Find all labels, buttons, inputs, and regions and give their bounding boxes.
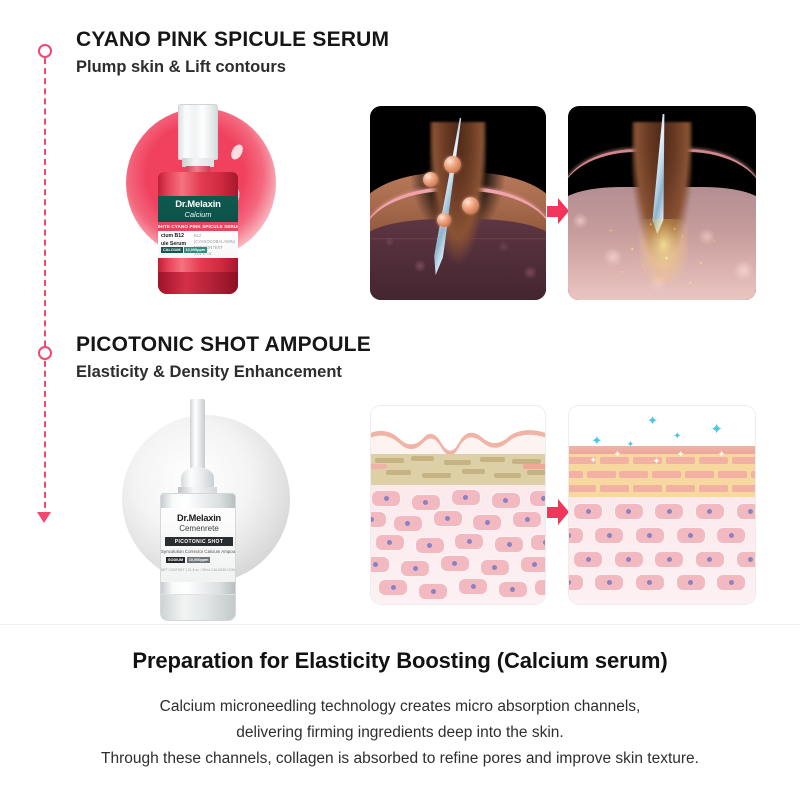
label-columns: cium B12 ule Serum B12 (CYANOCOBALAMIN) … [161,233,235,258]
panel-spicule-entering-pore [370,106,546,300]
label-banner: PICOTONIC SHOT [165,537,233,546]
wrinkle-surface-icon [370,424,546,456]
pill-ppm: 10,000ppm [187,557,211,563]
footer-explanation: Preparation for Elasticity Boosting (Cal… [0,648,800,772]
panel-firmed-skin-cross-section: ✦ ✦ ✦ ✦ ✦ ✦ ✦ ✦ ✦ ✦ [568,405,756,605]
bottle-body: Dr.Melaxin Calcium WHITE CYANO PINK SPIC… [158,172,238,294]
brand-name: Dr.Melaxin [161,513,236,523]
footer-body: Calcium microneedling technology creates… [0,694,800,772]
product-line-name: Calcium [158,210,238,219]
label-ingredient-pills: CALCIUM 10,000ppm [161,247,207,253]
label-left-column: cium B12 ule Serum [161,233,186,258]
section-picotonic-shot-ampoule: PICOTONIC SHOT AMPOULE Elasticity & Dens… [0,333,800,623]
section-divider [0,624,800,625]
sparkle-icon: ✦ [653,457,661,466]
calcium-bead [423,172,438,187]
label-ingredient-pills: SODIUM 10,000ppm [166,557,210,563]
sparkle-icon: ✦ [673,432,681,442]
footer-line: Calcium microneedling technology creates… [0,694,800,720]
bottle-body: Dr.Melaxin Cemenrete PICOTONIC SHOT Sync… [160,493,236,621]
stratum-corneum-layer [370,454,546,486]
label-description: Syncolution Corrector Calcium Ampoule [161,549,236,554]
section-1-subtitle: Plump skin & Lift contours [76,58,389,77]
brand-name: Dr.Melaxin [158,199,238,210]
ingredient-particles [598,215,730,293]
dermis-layer [568,497,756,604]
net-content-fine-print: NET CONTENT 1.01 fl.oz. / 30mL CALCIUM C… [161,568,236,572]
label-right-column: B12 (CYANOCOBALAMIN) NET CONTENT 1.01 fl… [194,233,235,258]
ampoule-bottle: Dr.Melaxin Cemenrete PICOTONIC SHOT Sync… [148,399,248,625]
dropper-shoulder [181,467,214,489]
product-line-name: Cemenrete [161,524,236,533]
sparkle-icon: ✦ [718,450,726,459]
serum-bottle: Dr.Melaxin Calcium WHITE CYANO PINK SPIC… [156,104,240,296]
product-image-ampoule: Dr.Melaxin Cemenrete PICOTONIC SHOT Sync… [108,391,308,631]
section-2-heading: PICOTONIC SHOT AMPOULE Elasticity & Dens… [76,333,371,382]
calcium-bead [437,213,451,227]
pill-sodium: SODIUM [166,557,185,563]
section-cyano-pink-spicule-serum: CYANO PINK SPICULE SERUM Plump skin & Li… [0,28,800,318]
pill-ppm: 10,000ppm [184,247,208,253]
product-image-serum: Dr.Melaxin Calcium WHITE CYANO PINK SPIC… [108,100,308,316]
transition-arrow-icon-2 [547,499,568,525]
sparkle-icon: ✦ [677,450,685,459]
serum-fluid [158,272,238,294]
sparkle-icon: ✦ [589,456,597,465]
footer-line: delivering firming ingredients deep into… [0,720,800,746]
section-1-heading: CYANO PINK SPICULE SERUM Plump skin & Li… [76,28,389,77]
ampoule-fluid [161,594,236,620]
dropper-cap [190,399,205,469]
transition-arrow-icon-1 [547,198,568,224]
panel-wrinkled-skin-cross-section [370,405,546,605]
bottle-label: Dr.Melaxin Cemenrete PICOTONIC SHOT Sync… [161,508,236,582]
sparkle-icon: ✦ [627,440,635,449]
bottle-label: Dr.Melaxin Calcium WHITE CYANO PINK SPIC… [158,196,238,258]
section-2-title: PICOTONIC SHOT AMPOULE [76,333,371,357]
section-2-subtitle: Elasticity & Density Enhancement [76,363,371,382]
sparkle-icon: ✦ [591,434,602,447]
footer-title: Preparation for Elasticity Boosting (Cal… [0,648,800,674]
pill-calcium: CALCIUM [161,247,183,253]
label-left-line-1: cium B12 [161,233,186,241]
dermis-layer [370,485,546,604]
label-banner: WHITE CYANO PINK SPICULE SERUM [158,222,238,231]
footer-line: Through these channels, collagen is abso… [0,746,800,772]
sparkle-icon: ✦ [647,414,658,427]
pump-cap [178,104,218,160]
sparkle-icon: ✦ [614,450,622,459]
panel-spicule-releasing-ingredients [568,106,756,300]
sparkle-icon: ✦ [710,422,723,437]
section-1-title: CYANO PINK SPICULE SERUM [76,28,389,52]
calcium-bead [462,197,479,214]
